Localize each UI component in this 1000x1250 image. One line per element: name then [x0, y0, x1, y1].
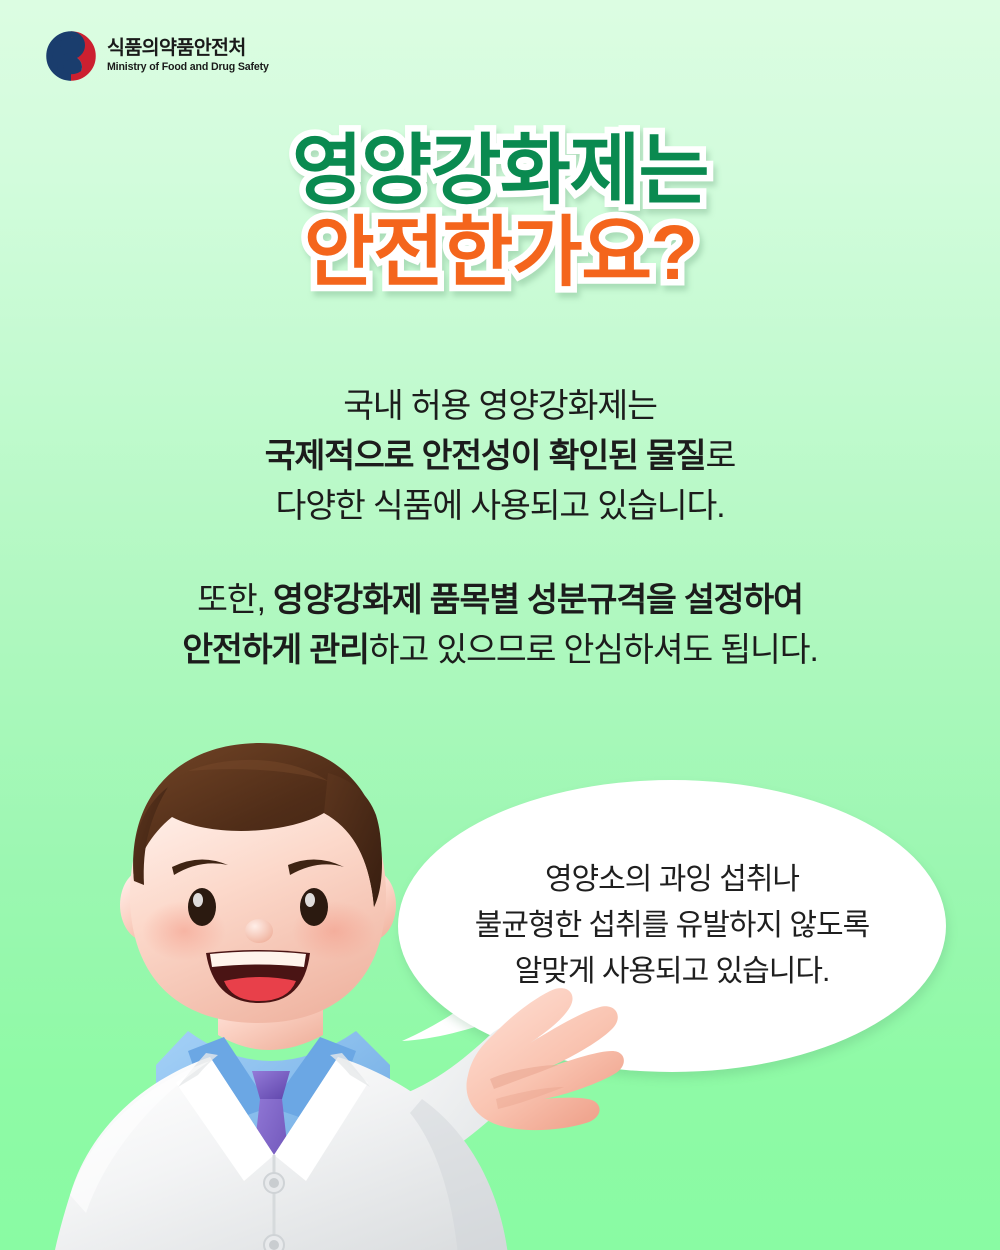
poster-canvas: 식품의약품안전처 Ministry of Food and Drug Safet…	[0, 0, 1000, 1250]
bubble-line-1: 영양소의 과잉 섭취나	[475, 857, 869, 903]
p2-line-1: 또한, 영양강화제 품목별 성분규격을 설정하여	[0, 576, 1000, 626]
body-copy: 국내 허용 영양강화제는 국제적으로 안전성이 확인된 물질로 다양한 식품에 …	[0, 382, 1000, 676]
logo-wordmark: 식품의약품안전처 Ministry of Food and Drug Safet…	[107, 39, 269, 73]
ministry-logo: 식품의약품안전처 Ministry of Food and Drug Safet…	[46, 31, 269, 81]
bubble-line-3: 알맞게 사용되고 있습니다.	[475, 949, 869, 995]
eye-right	[300, 888, 328, 926]
taegeuk-icon	[46, 31, 96, 81]
logo-name-en: Ministry of Food and Drug Safety	[107, 62, 269, 73]
paragraph-1: 국내 허용 영양강화제는 국제적으로 안전성이 확인된 물질로 다양한 식품에 …	[0, 382, 1000, 532]
p2-line-1-bold: 영양강화제 품목별 성분규격을 설정하여	[273, 582, 803, 619]
eye-left	[188, 888, 216, 926]
paragraph-2: 또한, 영양강화제 품목별 성분규격을 설정하여 안전하게 관리하고 있으므로 …	[0, 576, 1000, 676]
p1-line-3: 다양한 식품에 사용되고 있습니다.	[0, 482, 1000, 532]
p1-line-2-bold: 국제적으로 안전성이 확인된 물질	[265, 438, 706, 475]
logo-name-ko: 식품의약품안전처	[107, 39, 269, 59]
p1-line-1: 국내 허용 영양강화제는	[0, 382, 1000, 432]
bubble-line-2: 불균형한 섭취를 유발하지 않도록	[475, 903, 869, 949]
p2-line-2-tail: 하고 있으므로 안심하셔도 됩니다.	[369, 632, 818, 669]
open-hand	[466, 988, 623, 1130]
page-title: 영양강화제는 안전한가요?	[0, 133, 1000, 291]
p2-line-1-lead: 또한,	[197, 582, 273, 619]
p1-line-2: 국제적으로 안전성이 확인된 물질로	[0, 432, 1000, 482]
p2-line-2-bold: 안전하게 관리	[182, 632, 369, 669]
title-line-2: 안전한가요?	[0, 215, 1000, 291]
nose	[245, 919, 273, 943]
p1-line-2-tail: 로	[705, 438, 735, 475]
p2-line-2: 안전하게 관리하고 있으므로 안심하셔도 됩니다.	[0, 626, 1000, 676]
title-line-1: 영양강화제는	[0, 133, 1000, 209]
speech-bubble-text: 영양소의 과잉 섭취나 불균형한 섭취를 유발하지 않도록 알맞게 사용되고 있…	[449, 857, 895, 996]
